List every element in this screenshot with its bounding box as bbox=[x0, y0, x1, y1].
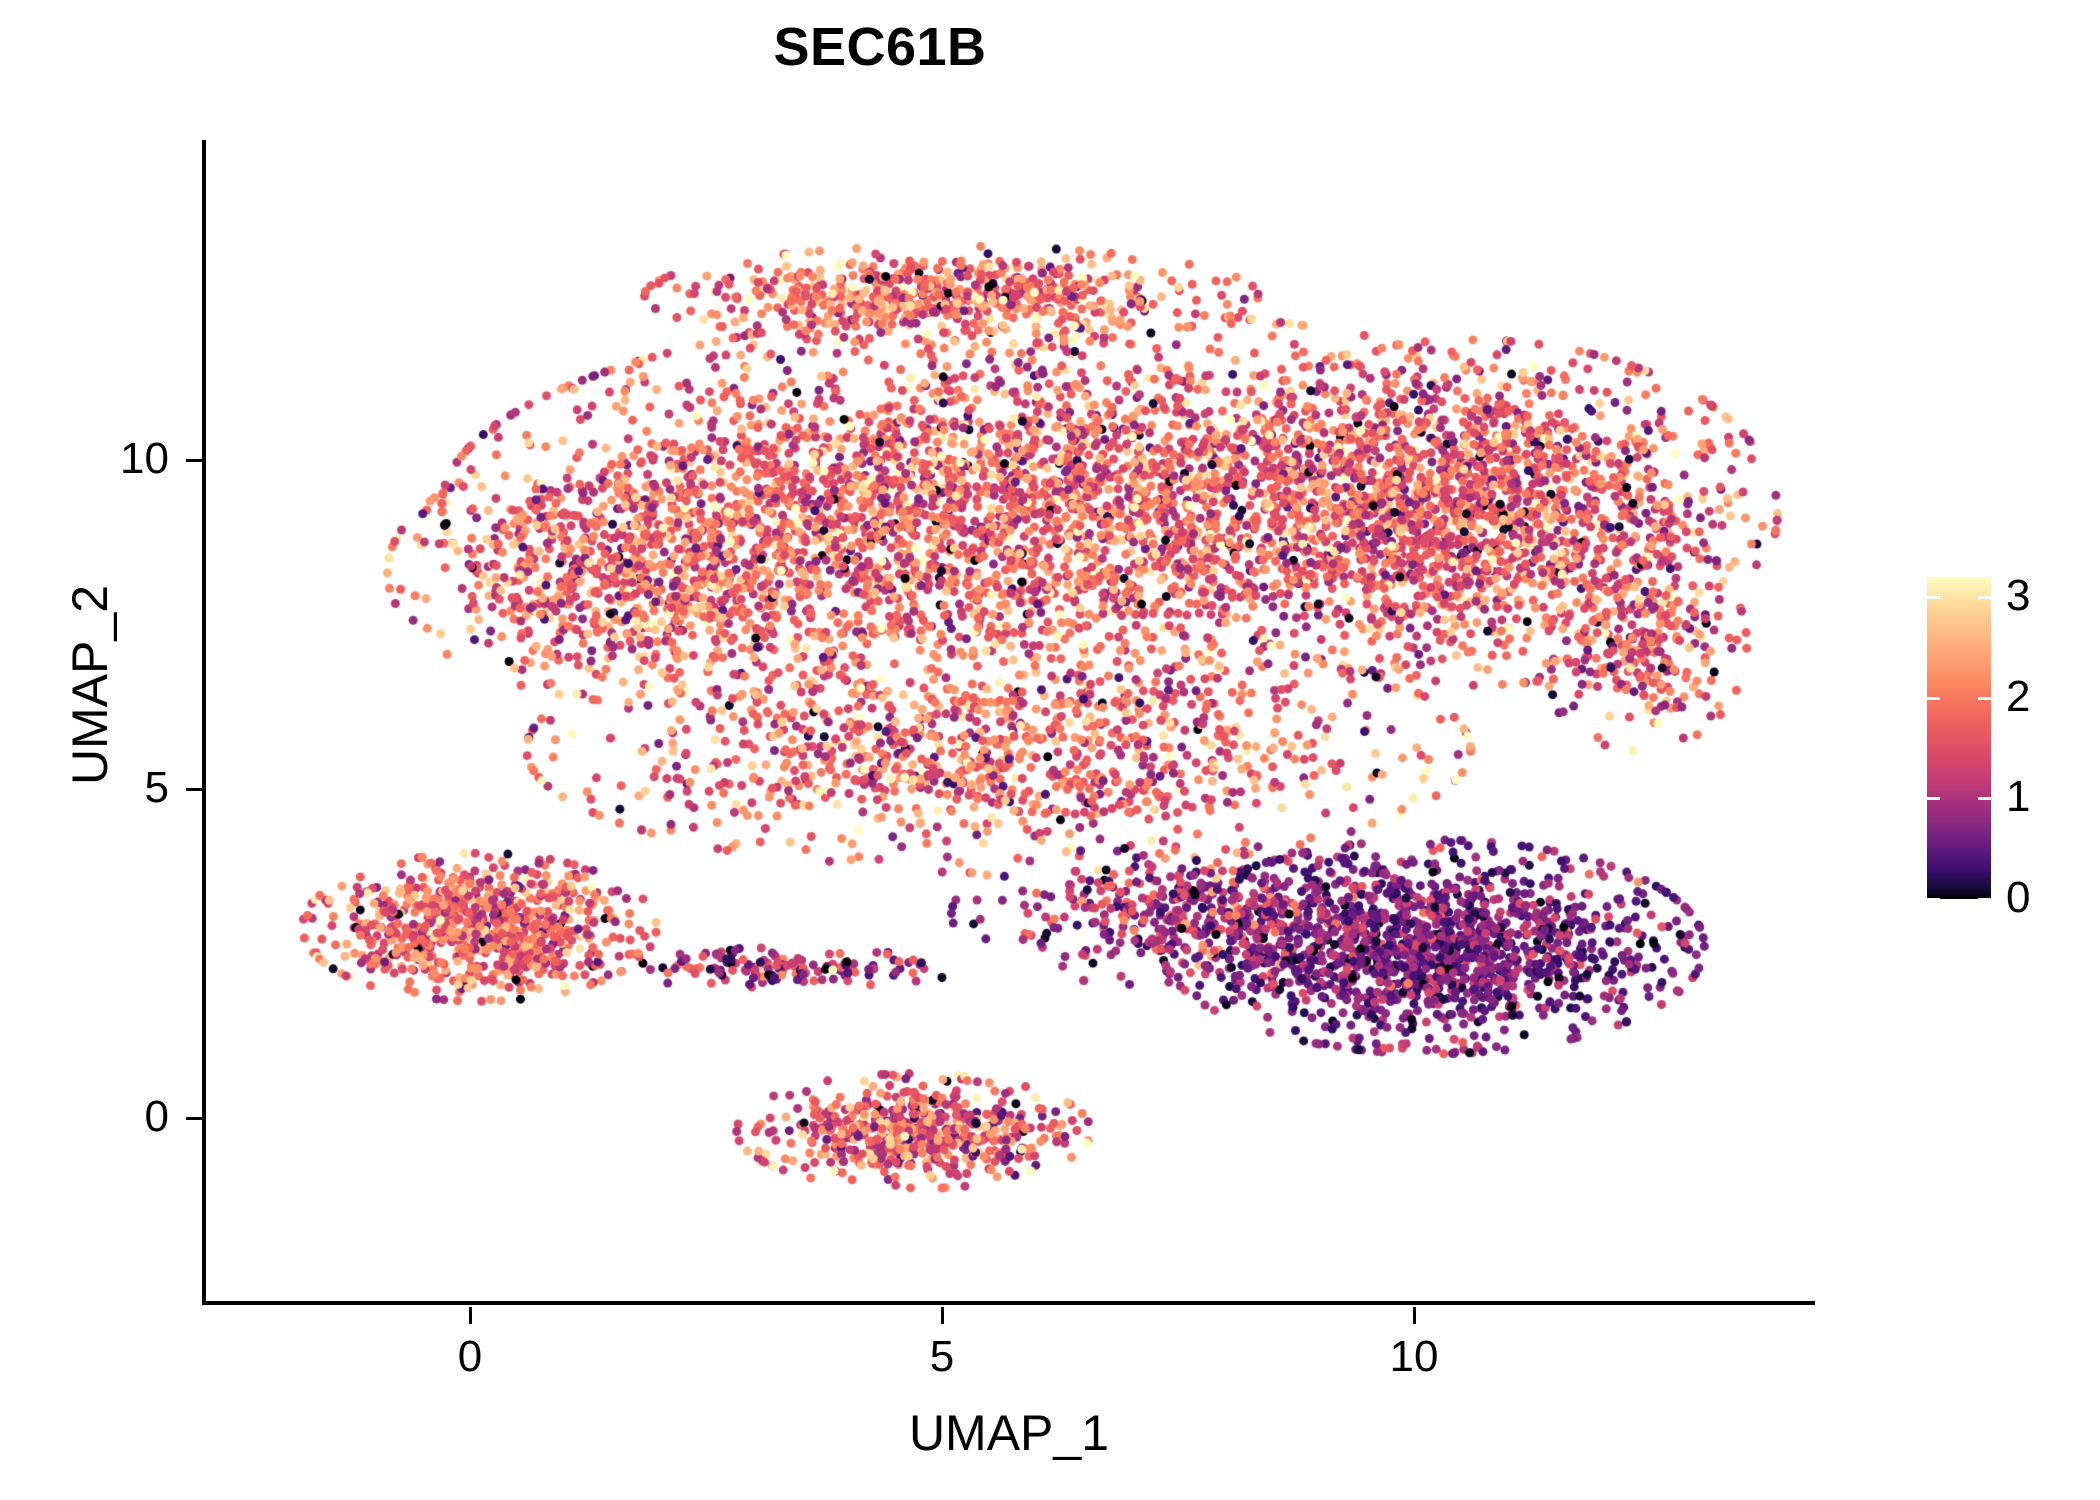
x-tick-label: 0 bbox=[370, 1335, 570, 1379]
colorbar-tick-mark bbox=[1927, 898, 1940, 901]
colorbar-tick-label: 0 bbox=[2006, 876, 2030, 920]
x-tick-label: 10 bbox=[1314, 1335, 1514, 1379]
y-tick-mark bbox=[186, 1117, 203, 1120]
x-axis-title: UMAP_1 bbox=[204, 1408, 1814, 1458]
colorbar-tick-mark bbox=[1978, 898, 1991, 901]
colorbar-tick-mark bbox=[1978, 797, 1991, 800]
y-tick-mark bbox=[186, 459, 203, 462]
feature-plot-figure: SEC61B 0510 0510 UMAP_1 UMAP_2 3210 bbox=[0, 0, 2100, 1500]
colorbar-tick-mark bbox=[1927, 797, 1940, 800]
y-tick-label: 0 bbox=[0, 1095, 169, 1139]
x-tick-mark bbox=[1413, 1307, 1416, 1324]
y-axis-line bbox=[202, 140, 206, 1305]
colorbar-tick-mark bbox=[1978, 697, 1991, 700]
x-tick-mark bbox=[469, 1307, 472, 1324]
colorbar-tick-label: 3 bbox=[2006, 574, 2030, 618]
y-tick-mark bbox=[186, 788, 203, 791]
x-tick-label: 5 bbox=[842, 1335, 1042, 1379]
page-title: SEC61B bbox=[0, 20, 1760, 74]
scatter-panel bbox=[204, 140, 1814, 1303]
colorbar-tick-label: 2 bbox=[2006, 675, 2030, 719]
color-legend: 3210 bbox=[1920, 560, 2080, 920]
x-tick-mark bbox=[941, 1307, 944, 1324]
x-axis-line bbox=[202, 1301, 1815, 1305]
colorbar-tick-mark bbox=[1927, 596, 1940, 599]
scatter-points-canvas bbox=[204, 140, 1814, 1303]
colorbar-tick-mark bbox=[1927, 697, 1940, 700]
colorbar-gradient bbox=[1927, 577, 1991, 899]
colorbar-tick-mark bbox=[1978, 596, 1991, 599]
colorbar-tick-label: 1 bbox=[2006, 775, 2030, 819]
y-axis-title: UMAP_2 bbox=[65, 285, 115, 1085]
